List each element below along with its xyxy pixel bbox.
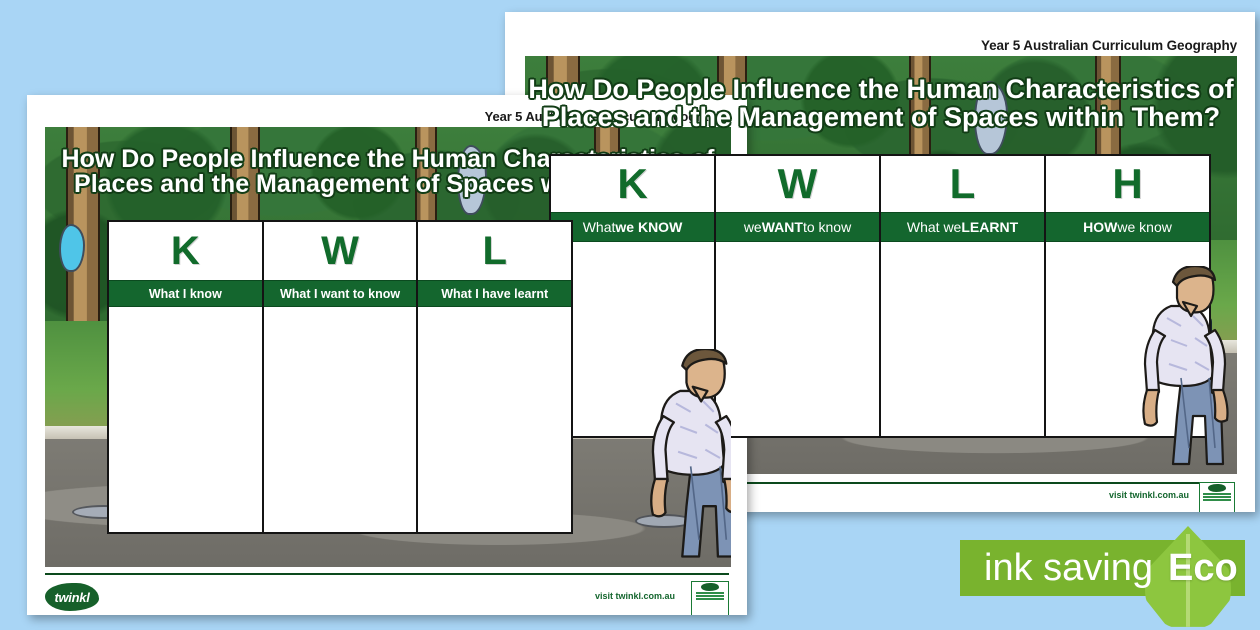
front-column-letter: W [264,222,417,280]
back-column-subtitle: we WANT to know [716,212,879,242]
back-title-line-1: How Do People Influence the Human Charac… [528,76,1233,104]
front-column-writing-area[interactable] [109,307,262,532]
front-column-subtitle: What I know [109,280,262,307]
screenshot-canvas: Year 5 Australian Curriculum Geography [0,0,1260,630]
front-column-subtitle: What I have learnt [418,280,571,307]
back-column-l[interactable]: L What we LEARNT [881,156,1046,436]
front-badge-text-lines [696,592,725,594]
back-subtitle-strong: we KNOW [615,219,682,235]
back-worksheet-sheet[interactable]: Year 5 Australian Curriculum Geography [505,12,1255,512]
front-scene-water [59,224,85,272]
front-person-walking-illustration [639,349,731,567]
front-column-subtitle: What I want to know [264,280,417,307]
front-kwl-table: K What I know W What I want to know L Wh… [107,220,573,534]
back-column-subtitle: What we KNOW [551,212,714,242]
back-column-letter: L [881,156,1044,212]
back-sheet-inner: Year 5 Australian Curriculum Geography [505,12,1255,512]
front-column-writing-area[interactable] [418,307,571,532]
back-column-writing-area[interactable] [716,242,879,436]
back-subtitle-suffix: to know [803,219,851,235]
front-certification-badge [691,581,729,615]
back-curriculum-label: Year 5 Australian Curriculum Geography [981,38,1237,53]
back-column-subtitle: What we LEARNT [881,212,1044,242]
back-subtitle-strong: WANT [762,219,803,235]
back-column-w[interactable]: W we WANT to know [716,156,881,436]
ink-saving-label: ink saving [984,548,1153,588]
front-visit-url[interactable]: visit twinkl.com.au [595,591,675,601]
back-badge-text-lines [1203,493,1230,495]
front-footer-divider [45,573,729,575]
back-illustration-board: How Do People Influence the Human Charac… [525,56,1237,474]
back-column-letter: W [716,156,879,212]
back-badge-logo-icon [1208,484,1226,492]
back-subtitle-strong: HOW [1083,219,1117,235]
twinkl-logo[interactable]: twinkl [45,583,99,611]
front-column-writing-area[interactable] [264,307,417,532]
front-column-l[interactable]: L What I have learnt [418,222,571,532]
front-column-w[interactable]: W What I want to know [264,222,419,532]
back-column-letter: K [551,156,714,212]
back-subtitle-suffix: we know [1117,219,1171,235]
back-subtitle-prefix: What [583,219,616,235]
back-column-writing-area[interactable] [881,242,1044,436]
front-column-letter: K [109,222,262,280]
back-subtitle-prefix: What we [907,219,961,235]
back-column-subtitle: HOW we know [1046,212,1209,242]
back-certification-badge [1199,482,1235,512]
back-subtitle-prefix: we [744,219,762,235]
back-subtitle-strong: LEARNT [961,219,1018,235]
eco-label: Eco [1168,548,1238,588]
front-column-letter: L [418,222,571,280]
front-badge-logo-icon [701,583,719,591]
back-person-walking-illustration [1133,266,1237,474]
ink-saving-eco-badge: ink saving Eco [960,526,1250,630]
back-visit-url[interactable]: visit twinkl.com.au [1109,490,1189,500]
back-column-letter: H [1046,156,1209,212]
front-column-k[interactable]: K What I know [109,222,264,532]
